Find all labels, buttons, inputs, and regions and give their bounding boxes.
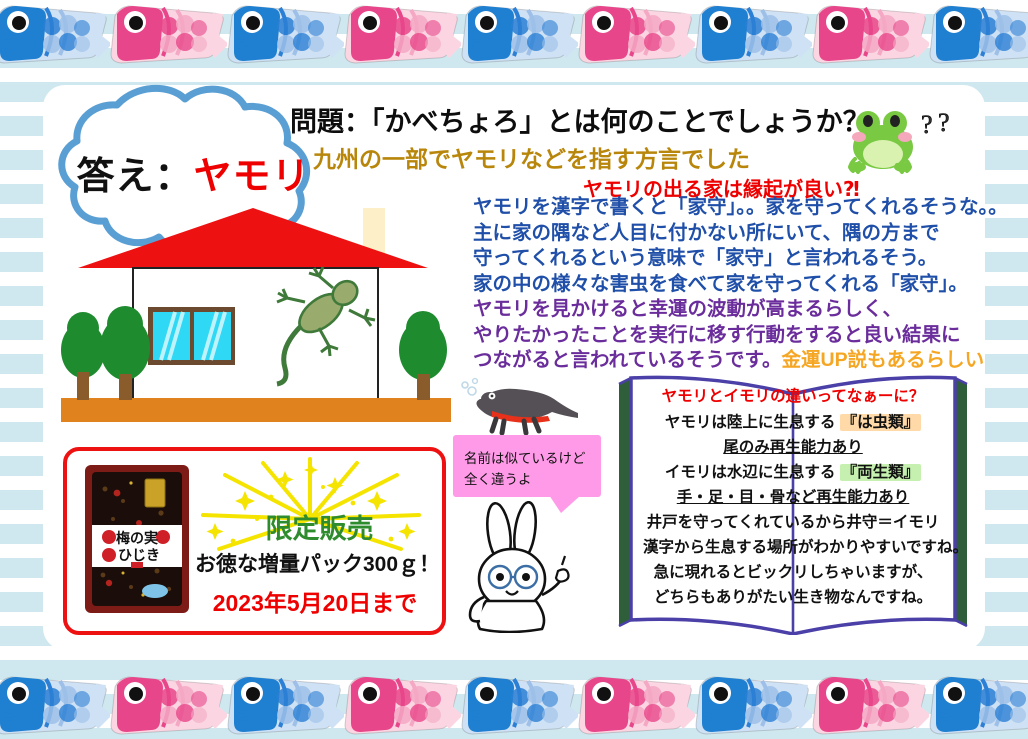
body-line-7-accent: 金運UP説もあるらしい — [782, 349, 985, 371]
content-card: 答え：ヤモリ 問題：「かべちょろ」とは何のことでしょうか？ 九州の一部でヤモリな… — [43, 85, 985, 650]
koinobori-icon — [811, 673, 929, 735]
body-line-4: 家の中の様々な害虫を食べて家を守ってくれる「家守」。 — [473, 272, 993, 298]
koinobori-border-top — [0, 0, 1028, 72]
koinobori-icon — [109, 2, 227, 64]
question-headline: 問題：「かべちょろ」とは何のことでしょうか？ — [290, 100, 850, 139]
promo-box[interactable]: 梅の実 ひじき — [63, 447, 446, 635]
book-line-7: 急に現れるとビックリしちゃいますが、 — [643, 560, 943, 585]
book-line-3-highlight: 『両生類』 — [840, 464, 922, 481]
svg-text:ひじき: ひじき — [118, 548, 160, 564]
koinobori-icon — [694, 673, 812, 735]
body-line-5: ヤモリを見かけると幸運の波動が高まるらしく、 — [473, 297, 993, 323]
limited-sale-label: 限定販売 — [207, 507, 432, 546]
koinobori-icon — [226, 673, 344, 735]
book-line-4: 手・足・目・骨など再生能力あり — [643, 485, 943, 510]
book-text-content: ヤモリとイモリの違いってなぁーに？ ヤモリは陸上に生息する 『は虫類』 尾のみ再… — [643, 384, 943, 610]
poster-canvas: 答え：ヤモリ 問題：「かべちょろ」とは何のことでしょうか？ 九州の一部でヤモリな… — [0, 0, 1028, 739]
koinobori-icon — [928, 673, 1028, 735]
frog-icon: ? ? — [843, 97, 963, 177]
book-title: ヤモリとイモリの違いってなぁーに？ — [643, 384, 943, 406]
koinobori-icon — [694, 2, 812, 64]
body-line-1: ヤモリを漢字で書くと「家守」。。家を守ってくれるそうな。。 — [473, 195, 993, 221]
book-line-1-pre: ヤモリは陸上に生息する — [665, 414, 840, 431]
koinobori-icon — [460, 673, 578, 735]
koinobori-icon — [928, 2, 1028, 64]
koinobori-icon — [577, 673, 695, 735]
book-line-6: 漢字から生息する場所がわかりやすいですね。 — [643, 535, 943, 560]
book-line-5: 井戸を守ってくれているから井守＝イモリ — [643, 510, 943, 535]
open-book-panel: ヤモリとイモリの違いってなぁーに？ ヤモリは陸上に生息する 『は虫類』 尾のみ再… — [613, 370, 973, 635]
koinobori-icon — [226, 2, 344, 64]
koinobori-border-bottom — [0, 667, 1028, 739]
book-line-3-pre: イモリは水辺に生息する — [665, 464, 840, 481]
svg-text:?: ? — [921, 110, 933, 139]
svg-text:?: ? — [938, 108, 950, 137]
body-line-3: 守ってくれるという意味で「家守」と言われるそう。 — [473, 246, 993, 272]
rabbit-character-group: 名前は似ているけど 全く違うよ — [448, 435, 628, 635]
house-with-gecko-illustration — [53, 180, 473, 430]
koinobori-icon — [0, 673, 110, 735]
body-paragraph: ヤモリを漢字で書くと「家守」。。家を守ってくれるそうな。。 主に家の隅など人目に… — [473, 195, 993, 374]
koinobori-icon — [343, 2, 461, 64]
body-line-6: やりたかったことを実行に移す行動をすると良い結果に — [473, 323, 993, 349]
svg-text:梅の実: 梅の実 — [116, 530, 158, 547]
book-line-3: イモリは水辺に生息する 『両生類』 — [643, 460, 943, 485]
bubble-line-2: 全く違うよ — [464, 469, 594, 490]
body-line-2: 主に家の隅など人目に付かない所にいて、隅の方まで — [473, 221, 993, 247]
book-line-8: どちらもありがたい生き物なんですね。 — [643, 585, 943, 610]
book-line-2: 尾のみ再生能力あり — [643, 435, 943, 460]
koinobori-icon — [460, 2, 578, 64]
book-line-1-highlight: 『は虫類』 — [840, 414, 922, 431]
dialect-subtitle: 九州の一部でヤモリなどを指す方言でした — [313, 140, 873, 174]
koinobori-icon — [811, 2, 929, 64]
newt-icon — [448, 367, 578, 439]
product-package-image: 梅の実 ひじき — [83, 463, 191, 615]
koinobori-icon — [109, 673, 227, 735]
promo-deadline-date: 2023年5月20日まで — [197, 584, 433, 618]
speech-bubble-text: 名前は似ているけど 全く違うよ — [464, 448, 594, 490]
bubble-line-1: 名前は似ているけど — [464, 448, 594, 469]
koinobori-icon — [577, 2, 695, 64]
promo-subtitle: お徳な増量パック300ｇ！ — [195, 548, 435, 578]
rabbit-icon — [462, 501, 592, 633]
book-line-1: ヤモリは陸上に生息する 『は虫類』 — [643, 410, 943, 435]
koinobori-icon — [343, 673, 461, 735]
koinobori-icon — [0, 2, 110, 64]
